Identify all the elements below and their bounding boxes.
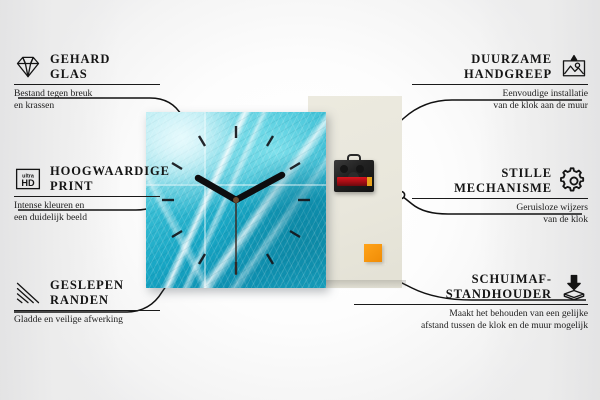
feature-duurzame-handgreep: DUURZAME HANDGREEP Eenvoudige installati…	[412, 52, 588, 111]
feature-description: Eenvoudige installatie van de klok aan d…	[412, 88, 588, 111]
mechanism-knob-1	[340, 165, 348, 173]
clock-center-cap	[233, 197, 239, 203]
feature-rule	[14, 310, 160, 311]
mechanism-knob-2	[356, 165, 364, 173]
feature-hoogwaardige-print: ultra HD HOOGWAARDIGE PRINT Intense kleu…	[14, 164, 160, 223]
feature-gehard-glas: GEHARD GLAS Bestand tegen breuk en krass…	[14, 52, 160, 111]
tick-5	[267, 254, 273, 264]
feature-title: DUURZAME HANDGREEP	[464, 52, 552, 81]
feature-title: STILLE MECHANISME	[454, 166, 552, 195]
clock-hour-hand	[198, 178, 236, 200]
feature-description: Bestand tegen breuk en krassen	[14, 88, 160, 111]
tick-1	[267, 136, 273, 146]
mechanism-body	[334, 160, 374, 192]
gear-icon	[560, 167, 588, 195]
feature-rule	[354, 304, 588, 305]
foam-spacer-pad	[364, 244, 382, 262]
feature-rule	[412, 198, 588, 199]
feature-rule	[412, 84, 588, 85]
mechanism-battery-terminal	[367, 177, 372, 186]
tick-8	[172, 231, 182, 237]
feature-title: HOOGWAARDIGE PRINT	[50, 164, 170, 193]
feature-description: Geruisloze wijzers van de klok	[412, 202, 588, 225]
ultra-hd-icon: ultra HD	[14, 165, 42, 193]
clock-minute-hand	[236, 175, 282, 200]
feature-description: Maakt het behouden van een gelijke afsta…	[354, 308, 588, 331]
framed-picture-icon	[560, 53, 588, 81]
tick-10	[172, 163, 182, 169]
feature-title: SCHUIMAF- STANDHOUDER	[446, 272, 552, 301]
feature-rule	[14, 196, 160, 197]
tick-11	[199, 136, 205, 146]
feature-stille-mechanisme: STILLE MECHANISME Geruisloze wijzers van…	[412, 166, 588, 225]
feature-schuimafstandhouder: SCHUIMAF- STANDHOUDER Maakt het behouden…	[354, 272, 588, 331]
feature-description: Intense kleuren en een duidelijk beeld	[14, 200, 160, 223]
foam-spacer-side	[382, 247, 386, 265]
clock-dial	[146, 112, 326, 288]
infographic-canvas: GEHARD GLAS Bestand tegen breuk en krass…	[0, 0, 600, 400]
tick-2	[290, 163, 300, 169]
spacer-pad-icon	[560, 273, 588, 301]
glass-clock-face	[146, 112, 326, 288]
feature-title: GEHARD GLAS	[50, 52, 110, 81]
feature-geslepen-randen: GESLEPEN RANDEN Gladde en veilige afwerk…	[14, 278, 160, 326]
feature-rule	[14, 84, 160, 85]
tick-4	[290, 231, 300, 237]
diamond-icon	[14, 53, 42, 81]
svg-text:HD: HD	[21, 178, 35, 188]
feature-description: Gladde en veilige afwerking	[14, 314, 160, 326]
mechanism-battery	[337, 177, 367, 186]
product-photo	[146, 96, 402, 296]
beveled-edge-icon	[14, 279, 42, 307]
tick-7	[199, 254, 205, 264]
clock-mechanism	[334, 154, 374, 192]
feature-title: GESLEPEN RANDEN	[50, 278, 124, 307]
